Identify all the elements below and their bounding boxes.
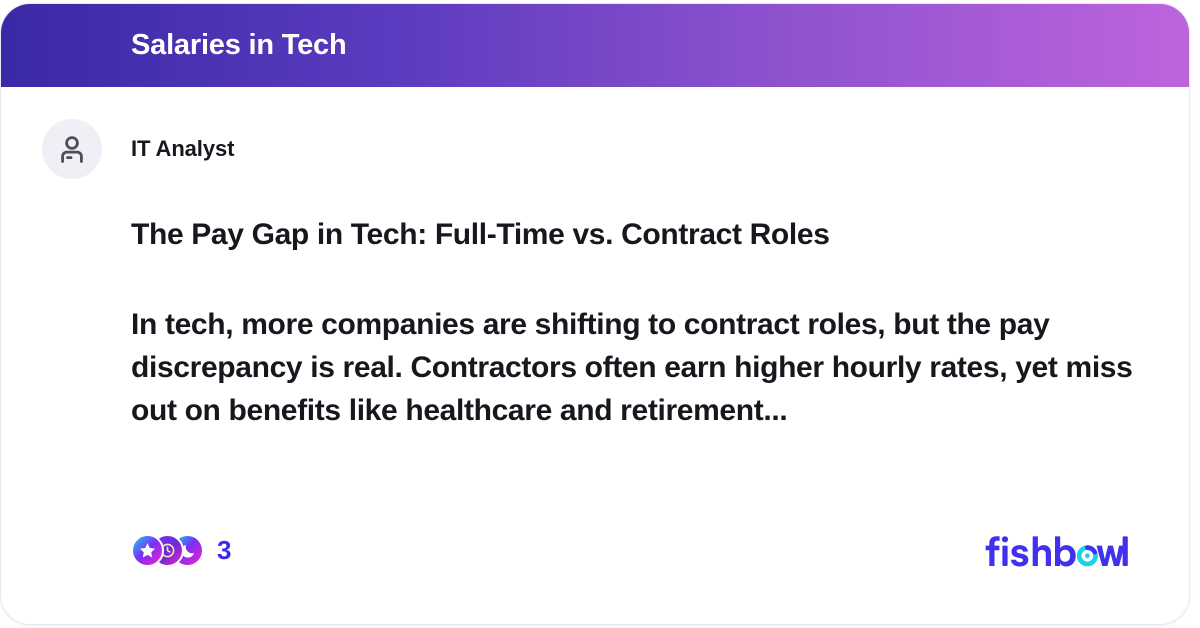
avatar[interactable] xyxy=(42,119,102,179)
fishbowl-logo xyxy=(983,530,1129,574)
star-reaction-icon[interactable] xyxy=(131,534,164,567)
reaction-chip-stack[interactable] xyxy=(131,534,203,567)
person-icon xyxy=(55,132,89,166)
reaction-count: 3 xyxy=(217,535,232,566)
author-name: IT Analyst xyxy=(131,136,234,162)
post-text: In tech, more companies are shifting to … xyxy=(131,303,1161,432)
bowl-header: Salaries in Tech xyxy=(1,4,1189,87)
author-row[interactable]: IT Analyst xyxy=(42,119,234,179)
post-body: IT Analyst The Pay Gap in Tech: Full-Tim… xyxy=(1,87,1189,625)
post-card[interactable]: Salaries in Tech IT Analyst The Pay Gap … xyxy=(0,3,1190,625)
post-footer: 3 xyxy=(1,516,1189,625)
reactions-group[interactable]: 3 xyxy=(131,534,232,567)
bowl-title: Salaries in Tech xyxy=(131,29,346,62)
post-title: The Pay Gap in Tech: Full-Time vs. Contr… xyxy=(131,217,1141,253)
